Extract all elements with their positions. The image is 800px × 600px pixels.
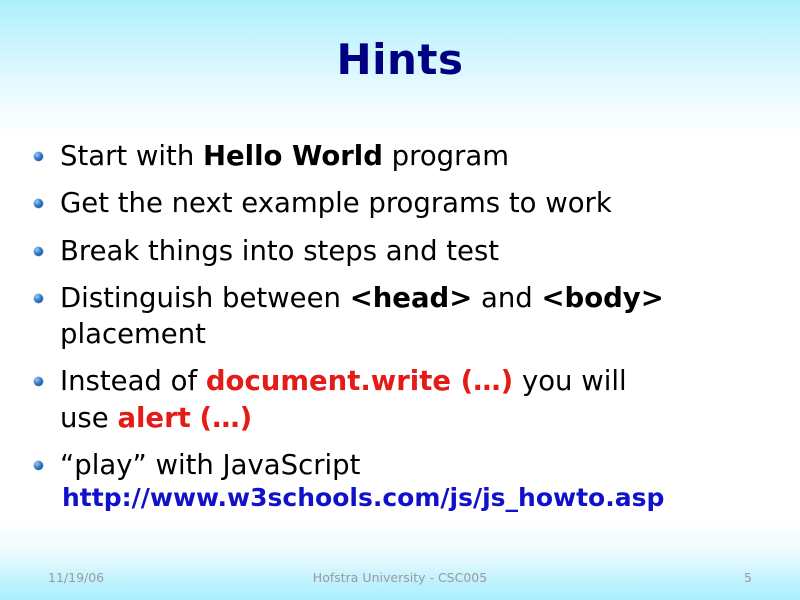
code-ellipsis-args-2: (…)	[200, 402, 253, 434]
page-title: Hints	[0, 38, 800, 82]
bullet-text-segment: you will	[513, 365, 626, 397]
code-document-write: document.write	[206, 365, 451, 397]
bullet-text-segment: Break things into steps and test	[60, 235, 499, 267]
bullet-text-segment: “play” with JavaScript	[60, 449, 360, 481]
bullet-text-continuation: placement	[60, 316, 778, 352]
list-item: Break things into steps and test	[26, 233, 778, 269]
bullet-sphere-icon	[34, 152, 43, 161]
bullet-list: Start with Hello World program Get the n…	[26, 138, 778, 525]
code-ellipsis-args-1: (…)	[461, 365, 514, 397]
list-item: Start with Hello World program	[26, 138, 778, 174]
bullet-text-emphasis: Hello World	[203, 140, 383, 172]
bullet-text-segment: Instead of	[60, 365, 206, 397]
bullet-sphere-icon	[34, 377, 43, 386]
bullet-sphere-icon	[34, 247, 43, 256]
footer-course-label: Hofstra University - CSC005	[0, 570, 800, 585]
code-alert: alert	[117, 402, 190, 434]
list-item: Get the next example programs to work	[26, 185, 778, 221]
footer-page-number: 5	[744, 570, 752, 585]
bullet-text-segment: Start with	[60, 140, 203, 172]
w3schools-link[interactable]: http://www.w3schools.com/js/js_howto.asp	[60, 481, 778, 514]
slide-canvas: Hints Start with Hello World program Get…	[0, 0, 800, 600]
bullet-text-continuation: use alert (…)	[60, 400, 778, 436]
list-item: “play” with JavaScript http://www.w3scho…	[26, 447, 778, 514]
bullet-sphere-icon	[34, 199, 43, 208]
html-tag-body: <body>	[541, 282, 663, 314]
bullet-text-segment: program	[383, 140, 509, 172]
bullet-text-segment: use	[60, 402, 109, 434]
bullet-sphere-icon	[34, 461, 43, 470]
bullet-text-segment: Distinguish between	[60, 282, 350, 314]
bullet-text-segment: and	[472, 282, 541, 314]
bullet-sphere-icon	[34, 294, 43, 303]
bullet-text-segment: Get the next example programs to work	[60, 187, 612, 219]
list-item: Instead of document.write (…) you will u…	[26, 363, 778, 436]
list-item: Distinguish between <head> and <body> pl…	[26, 280, 778, 353]
slide-footer: 11/19/06 Hofstra University - CSC005 5	[0, 570, 800, 588]
html-tag-head: <head>	[350, 282, 473, 314]
